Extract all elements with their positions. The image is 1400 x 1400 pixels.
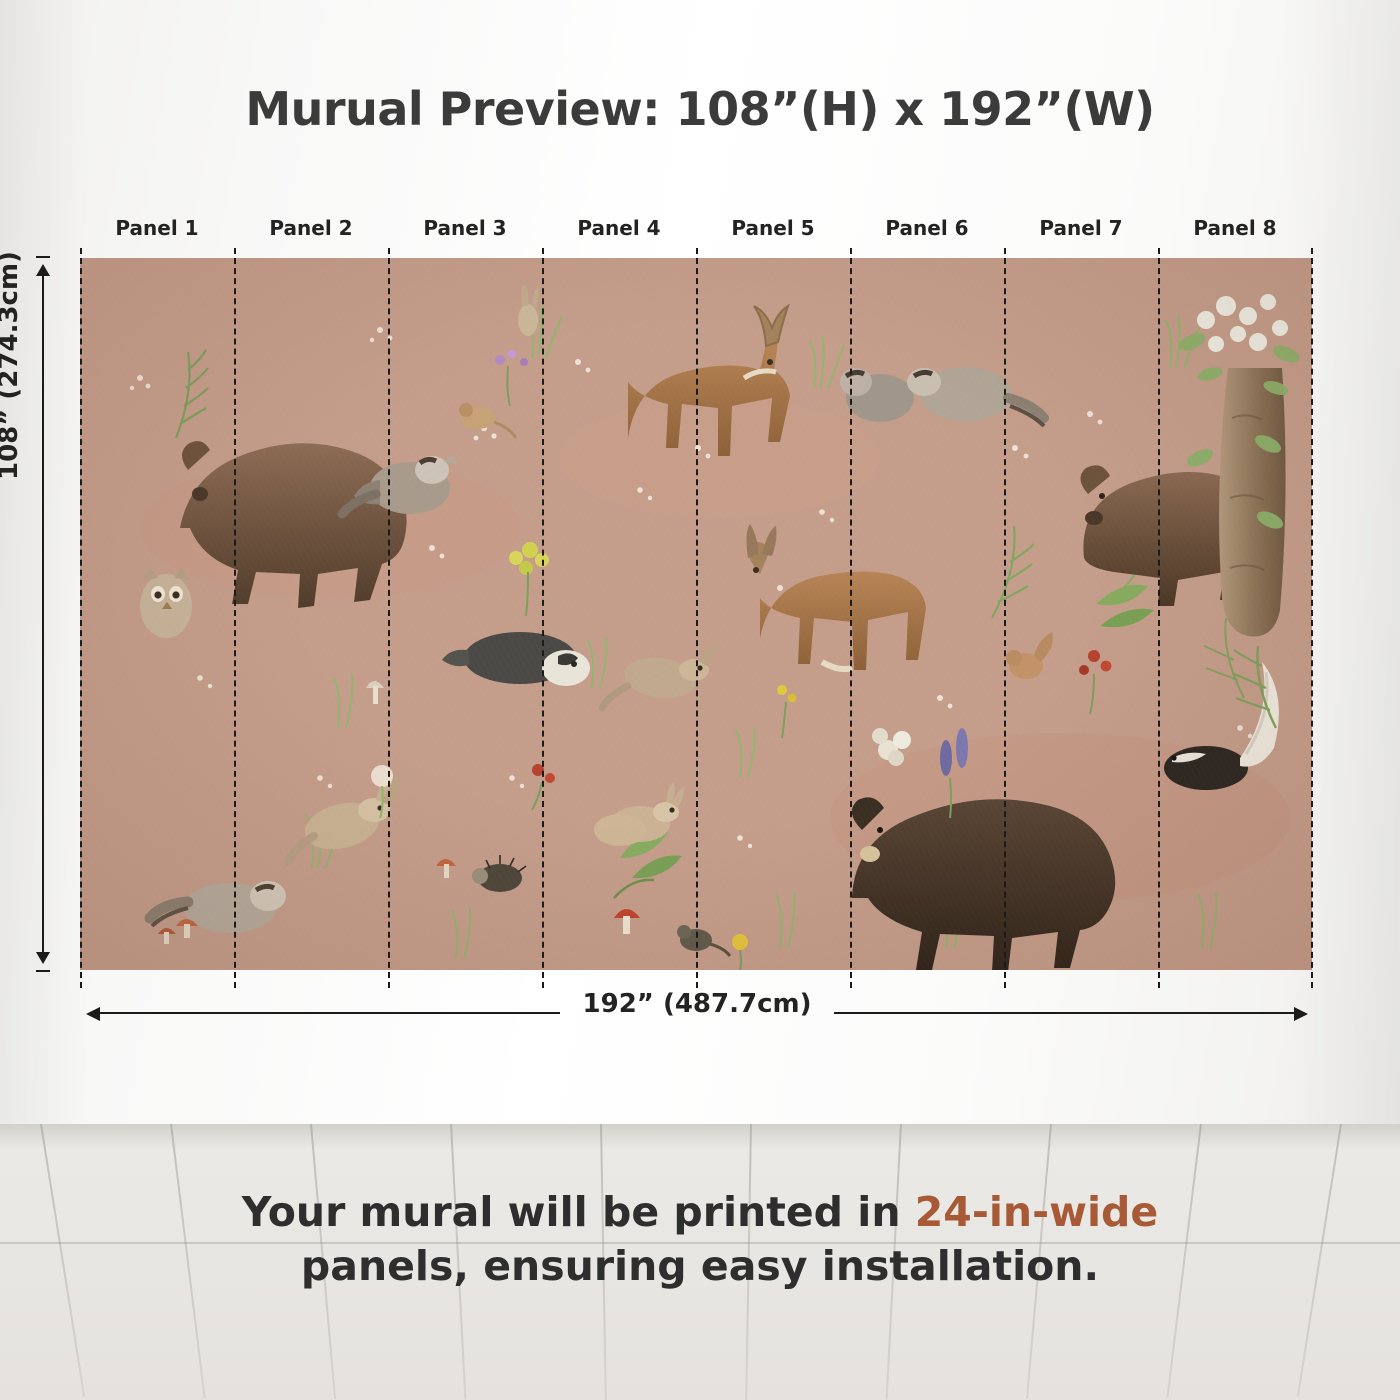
panel-seam-3 xyxy=(542,248,544,988)
height-line xyxy=(42,266,44,962)
panel-label-1: Panel 1 xyxy=(80,216,234,246)
panel-seam-6 xyxy=(1004,248,1006,988)
panel-seam-0 xyxy=(80,248,82,988)
page-title: Murual Preview: 108”(H) x 192”(W) xyxy=(0,82,1400,136)
panel-label-row: Panel 1 Panel 2 Panel 3 Panel 4 Panel 5 … xyxy=(80,216,1312,246)
panel-seam-8 xyxy=(1311,248,1313,988)
panel-label-2: Panel 2 xyxy=(234,216,388,246)
panel-seam-7 xyxy=(1158,248,1160,988)
panel-label-5: Panel 5 xyxy=(696,216,850,246)
panel-seam-1 xyxy=(234,248,236,988)
panel-seam-4 xyxy=(696,248,698,988)
height-cap-bottom xyxy=(36,970,50,972)
panel-label-3: Panel 3 xyxy=(388,216,542,246)
height-dimension-label: 108” (274.3cm) xyxy=(0,251,24,480)
footer-text-line2: panels, ensuring easy installation. xyxy=(301,1242,1099,1290)
height-cap-top xyxy=(36,256,50,258)
height-arrow-top xyxy=(36,264,50,276)
panel-label-7: Panel 7 xyxy=(1004,216,1158,246)
footer-highlight: 24-in-wide xyxy=(915,1188,1158,1236)
panel-label-8: Panel 8 xyxy=(1158,216,1312,246)
panel-label-6: Panel 6 xyxy=(850,216,1004,246)
panel-seams xyxy=(80,248,1312,988)
width-dimension-label: 192” (487.7cm) xyxy=(86,989,1308,1019)
panel-label-4: Panel 4 xyxy=(542,216,696,246)
height-arrow-bottom xyxy=(36,952,50,964)
panel-seam-2 xyxy=(388,248,390,988)
footer-text-pre: Your mural will be printed in xyxy=(242,1188,915,1236)
preview-page: Murual Preview: 108”(H) x 192”(W) Panel … xyxy=(0,0,1400,1400)
width-dimension: 192” (487.7cm) xyxy=(86,1005,1308,1021)
height-dimension xyxy=(36,256,50,972)
panel-seam-5 xyxy=(850,248,852,988)
footer-note: Your mural will be printed in 24-in-wide… xyxy=(0,1185,1400,1293)
